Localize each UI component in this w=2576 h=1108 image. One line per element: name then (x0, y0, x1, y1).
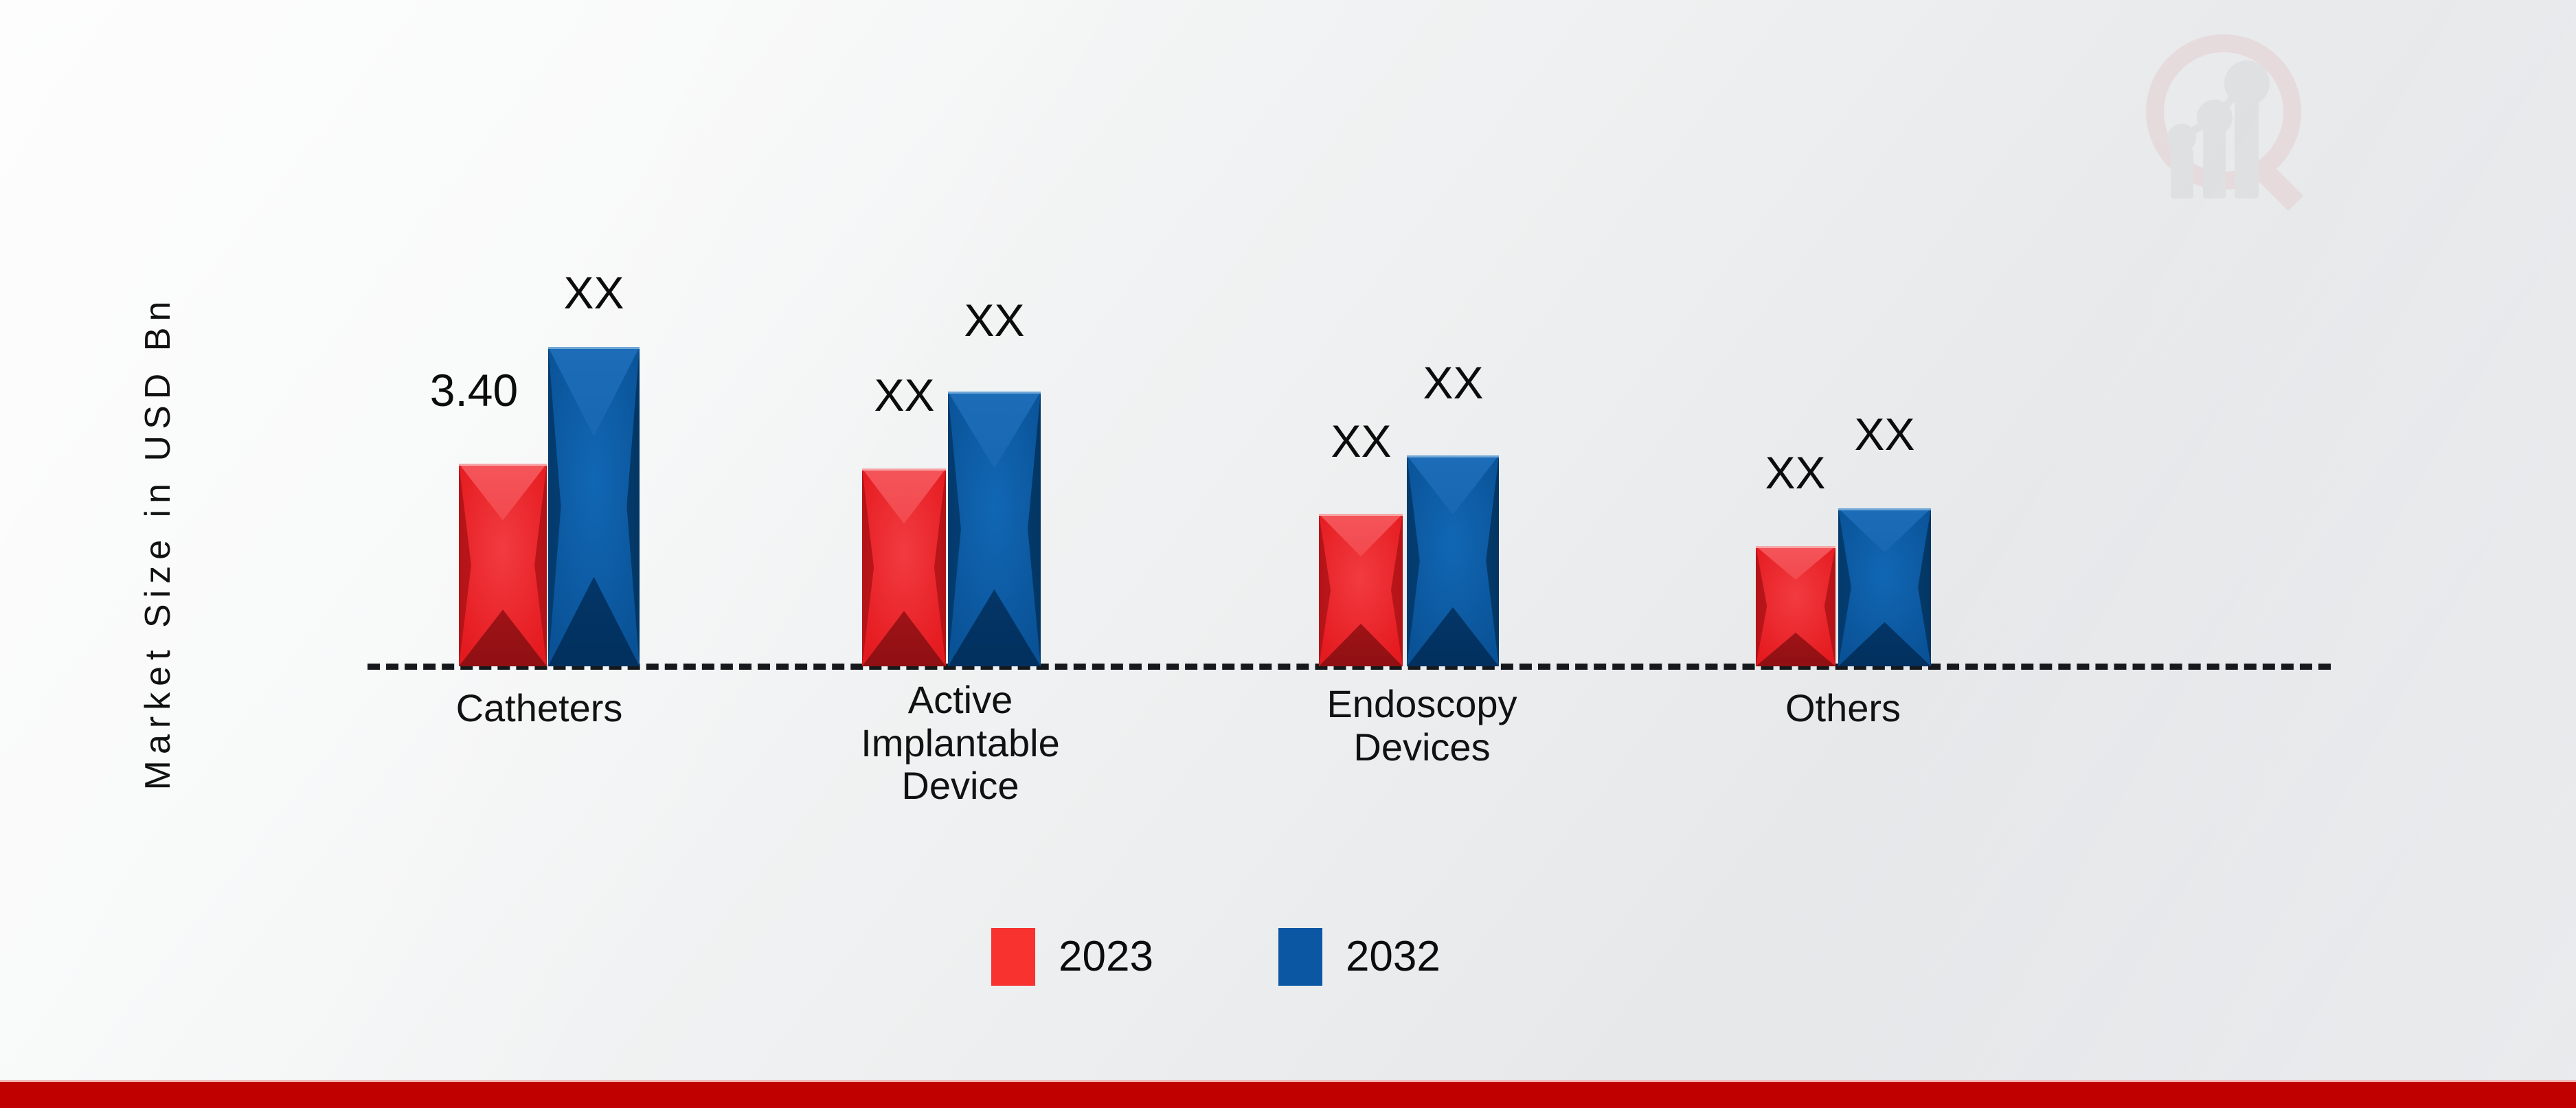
bar-2023-group-0 (459, 464, 547, 666)
bar-2032-group-0 (548, 347, 640, 666)
bar-top-highlight (862, 468, 946, 471)
bar-2032-group-2 (1407, 455, 1499, 666)
value-label-2023-group-1: XX (831, 369, 978, 421)
value-label-2032-group-1: XX (920, 294, 1068, 346)
legend-item-2032[interactable]: 2032 (1278, 928, 1440, 986)
category-label-2: Endoscopy Devices (1264, 683, 1580, 769)
value-label-2032-group-2: XX (1379, 357, 1527, 409)
bar-2023-group-2 (1319, 514, 1403, 666)
footer-accent-bar (0, 1082, 2576, 1108)
legend-swatch-icon-2023 (991, 928, 1035, 986)
value-label-2032-group-0: XX (520, 267, 668, 319)
bar-top-highlight (459, 464, 547, 466)
category-label-1: Active Implantable Device (802, 679, 1118, 808)
chart-legend: 2023 2032 (991, 928, 1440, 986)
legend-swatch-icon-2032 (1278, 928, 1322, 986)
bar-top-highlight (1838, 508, 1931, 510)
bar-2023-group-3 (1756, 546, 1835, 666)
value-label-2023-group-2: XX (1287, 415, 1435, 467)
bar-top-highlight (1756, 546, 1835, 548)
bar-top-highlight (548, 347, 640, 349)
bar-2032-group-1 (948, 392, 1041, 666)
legend-label-2032: 2032 (1346, 936, 1440, 978)
chart-canvas: Market Size in USD Bn 3.40XXXXXXXXXXXXXX… (0, 0, 2576, 1108)
value-label-2023-group-0: 3.40 (395, 364, 553, 416)
bar-top-highlight (1319, 514, 1403, 516)
category-label-0: Catheters (381, 687, 697, 730)
category-label-3: Others (1685, 687, 2001, 730)
bar-2032-group-3 (1838, 508, 1931, 666)
legend-label-2023: 2023 (1059, 936, 1153, 978)
value-label-2032-group-3: XX (1811, 408, 1958, 460)
bar-2023-group-1 (862, 468, 946, 666)
legend-item-2023[interactable]: 2023 (991, 928, 1153, 986)
